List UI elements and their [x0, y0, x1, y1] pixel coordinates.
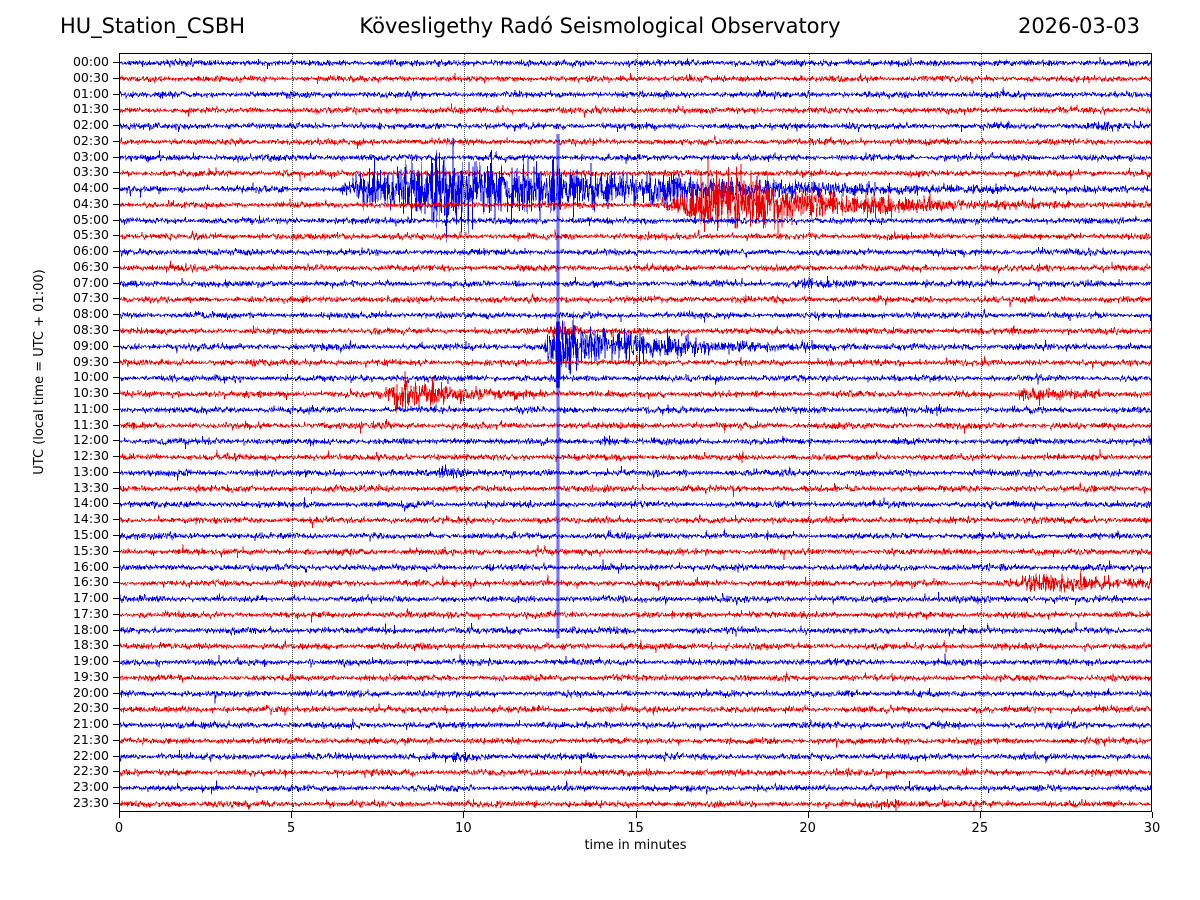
- y-tick-label-1830: 18:30: [0, 637, 109, 652]
- seismogram-page: HU_Station_CSBH Kövesligethy Radó Seismo…: [0, 0, 1200, 900]
- trace-row-1130: [120, 419, 1152, 433]
- trace-row-1700: [120, 592, 1152, 606]
- trace-row-2130: [120, 737, 1152, 748]
- trace-row-2200: [120, 750, 1152, 763]
- y-tick-label-0330: 03:30: [0, 164, 109, 179]
- y-tick-label-1230: 12:30: [0, 448, 109, 463]
- y-tick-label-0400: 04:00: [0, 180, 109, 195]
- trace-row-1930: [120, 672, 1152, 683]
- trace-row-1430: [120, 514, 1152, 528]
- trace-row-1800: [120, 622, 1152, 636]
- trace-row-0130: [120, 104, 1152, 118]
- x-tick-mark: [808, 812, 809, 818]
- trace-row-0000: [120, 57, 1152, 69]
- x-tick-mark: [636, 812, 637, 818]
- y-tick-label-1330: 13:30: [0, 480, 109, 495]
- y-tick-label-0600: 06:00: [0, 243, 109, 258]
- y-tick-label-1930: 19:30: [0, 669, 109, 684]
- y-tick-label-0730: 07:30: [0, 290, 109, 305]
- y-tick-label-2100: 21:00: [0, 716, 109, 731]
- y-tick-label-0300: 03:00: [0, 149, 109, 164]
- trace-row-0530: [120, 229, 1152, 241]
- y-tick-label-0030: 00:30: [0, 70, 109, 85]
- y-tick-label-0100: 01:00: [0, 86, 109, 101]
- trace-row-2230: [120, 766, 1152, 778]
- trace-row-0800: [120, 308, 1152, 322]
- trace-row-2330: [120, 799, 1152, 813]
- y-tick-label-2300: 23:00: [0, 779, 109, 794]
- y-tick-label-0200: 02:00: [0, 117, 109, 132]
- y-tick-label-0530: 05:30: [0, 227, 109, 242]
- trace-row-1830: [120, 639, 1152, 652]
- trace-row-2100: [120, 718, 1152, 731]
- trace-row-1630: [120, 570, 1152, 593]
- x-tick-label-0: 0: [115, 821, 123, 836]
- y-tick-label-1100: 11:00: [0, 401, 109, 416]
- x-tick-mark: [1152, 812, 1153, 818]
- y-tick-label-2330: 23:30: [0, 795, 109, 810]
- y-tick-label-0930: 09:30: [0, 354, 109, 369]
- x-tick-label-5: 5: [287, 821, 295, 836]
- x-tick-mark: [463, 812, 464, 818]
- y-tick-label-2200: 22:00: [0, 748, 109, 763]
- y-tick-label-0130: 01:30: [0, 101, 109, 116]
- trace-row-1100: [120, 404, 1152, 416]
- y-tick-label-1600: 16:00: [0, 559, 109, 574]
- y-tick-label-2130: 21:30: [0, 732, 109, 747]
- trace-row-2300: [120, 780, 1152, 794]
- trace-row-0300: [120, 151, 1152, 164]
- y-tick-label-1730: 17:30: [0, 606, 109, 621]
- y-tick-label-1300: 13:00: [0, 464, 109, 479]
- y-tick-label-0900: 09:00: [0, 338, 109, 353]
- x-tick-label-30: 30: [1144, 821, 1161, 836]
- y-tick-label-0430: 04:30: [0, 196, 109, 211]
- y-tick-label-0630: 06:30: [0, 259, 109, 274]
- x-tick-mark: [119, 812, 120, 818]
- trace-row-1330: [120, 482, 1152, 497]
- trace-row-0430: [120, 158, 1152, 237]
- trace-row-1530: [120, 544, 1152, 560]
- trace-row-1500: [120, 528, 1152, 541]
- trace-row-1730: [120, 609, 1152, 623]
- trace-row-0030: [120, 73, 1152, 84]
- x-axis-label: time in minutes: [119, 838, 1152, 853]
- y-tick-label-2030: 20:30: [0, 700, 109, 715]
- trace-row-0400: [120, 138, 1152, 243]
- y-tick-label-1430: 14:30: [0, 511, 109, 526]
- y-tick-label-0000: 00:00: [0, 54, 109, 69]
- trace-row-0100: [120, 87, 1152, 100]
- y-tick-label-1630: 16:30: [0, 574, 109, 589]
- x-tick-label-10: 10: [455, 821, 472, 836]
- trace-row-0630: [120, 261, 1152, 273]
- trace-row-1400: [120, 497, 1152, 511]
- y-tick-label-0700: 07:00: [0, 275, 109, 290]
- y-tick-label-0830: 08:30: [0, 322, 109, 337]
- y-tick-label-1000: 10:00: [0, 369, 109, 384]
- trace-row-0500: [120, 215, 1152, 226]
- y-tick-label-0500: 05:00: [0, 212, 109, 227]
- trace-row-0730: [120, 293, 1152, 306]
- trace-row-2030: [120, 704, 1152, 717]
- trace-row-0900: [120, 312, 1152, 378]
- header: HU_Station_CSBH Kövesligethy Radó Seismo…: [0, 14, 1200, 48]
- trace-row-1900: [120, 653, 1152, 668]
- helicorder-plot: [119, 53, 1152, 812]
- trace-row-1000: [120, 373, 1152, 386]
- trace-row-1600: [120, 560, 1152, 574]
- trace-row-0200: [120, 120, 1152, 132]
- y-tick-label-1200: 12:00: [0, 432, 109, 447]
- trace-row-1230: [120, 449, 1152, 463]
- y-tick-label-0800: 08:00: [0, 306, 109, 321]
- y-tick-label-1400: 14:00: [0, 495, 109, 510]
- y-tick-label-1800: 18:00: [0, 622, 109, 637]
- y-tick-label-1700: 17:00: [0, 590, 109, 605]
- x-tick-label-20: 20: [799, 821, 816, 836]
- x-tick-mark: [980, 812, 981, 818]
- y-tick-label-1130: 11:30: [0, 417, 109, 432]
- y-tick-label-1500: 15:00: [0, 527, 109, 542]
- x-tick-mark: [291, 812, 292, 818]
- trace-row-0600: [120, 247, 1152, 258]
- trace-row-0700: [120, 276, 1152, 290]
- seismic-traces: [120, 54, 1152, 812]
- y-tick-label-1530: 15:30: [0, 543, 109, 558]
- x-tick-label-25: 25: [972, 821, 989, 836]
- y-tick-label-2000: 20:00: [0, 685, 109, 700]
- trace-row-0230: [120, 135, 1152, 149]
- y-tick-label-0230: 02:30: [0, 133, 109, 148]
- trace-row-2000: [120, 688, 1152, 704]
- y-tick-label-1900: 19:00: [0, 653, 109, 668]
- trace-row-0330: [120, 168, 1152, 181]
- trace-row-1300: [120, 465, 1152, 481]
- x-tick-label-15: 15: [627, 821, 644, 836]
- trace-row-1200: [120, 435, 1152, 448]
- trace-row-0930: [120, 355, 1152, 369]
- saturation-core: [556, 322, 560, 388]
- y-tick-label-2230: 22:30: [0, 763, 109, 778]
- date-label: 2026-03-03: [1018, 14, 1140, 38]
- y-tick-label-1030: 10:30: [0, 385, 109, 400]
